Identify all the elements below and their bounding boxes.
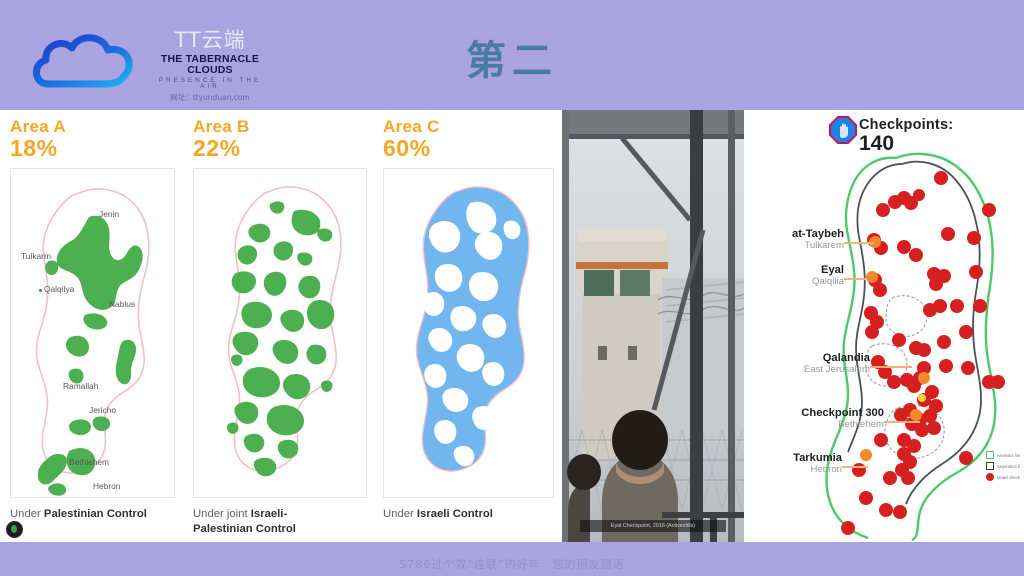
area-b-caption-bold: Israeli-	[251, 508, 287, 520]
area-a-percent: 18%	[10, 136, 175, 160]
area-c-percent: 60%	[383, 136, 554, 160]
cp-name-qalandia: Qalandia	[746, 352, 870, 365]
city-label-nablus: Nablus	[109, 299, 135, 309]
cp-label-tarkumia: Tarkumia Hebron	[752, 452, 842, 475]
city-label-bethlehem: Bethlehem	[69, 457, 109, 467]
legend-row-checkpoint: Israeli checkpoint	[986, 473, 1020, 481]
area-a-caption: Under Palestinian Control	[10, 507, 175, 521]
area-a-caption-bold: Palestinian Control	[44, 508, 147, 520]
city-label-jericho: Jericho	[89, 405, 116, 415]
checkpoints-map-panel: Checkpoints: 140	[744, 110, 1024, 542]
cp-sub-checkpoint-300: Bethlehem	[746, 420, 884, 431]
area-b-caption: Under joint Israeli-Palestinian Control	[193, 507, 367, 536]
city-label-ramallah: Ramallah	[63, 381, 98, 391]
leader-line-eyal	[844, 278, 866, 280]
area-a-caption-prefix: Under	[10, 508, 44, 520]
city-label-qalqilya: Qalqilya	[44, 284, 74, 294]
area-b-caption-bold2: Palestinian Control	[193, 523, 296, 535]
leader-line-checkpoint-300	[884, 421, 920, 423]
separation-barrier-icon	[986, 462, 994, 470]
cp-name-eyal: Eyal	[764, 264, 844, 277]
leader-line-at-taybeh	[844, 242, 874, 244]
city-label-hebron: Hebron	[93, 481, 120, 491]
cp-sub-at-taybeh: Tulkarem	[750, 241, 844, 252]
area-c-map	[383, 168, 554, 498]
checkpoint-photo: Eyal Checkpoint, 2018 (Activestills)	[562, 110, 744, 542]
area-a-label: Area A	[10, 118, 175, 135]
source-badge-icon	[6, 521, 23, 538]
area-b-caption-prefix: Under joint	[193, 508, 251, 520]
cp-sub-tarkumia: Hebron	[752, 465, 842, 476]
photo-caption: Eyal Checkpoint, 2018 (Activestills)	[580, 520, 726, 532]
slide-root: TT云端 THE TABERNACLE CLOUDS PRESENCE IN T…	[0, 0, 1024, 576]
cp-name-at-taybeh: at-Taybeh	[750, 228, 844, 241]
city-label-tulkarm: Tulkarm	[21, 251, 51, 261]
legend-text-armistice: Armistice line	[997, 453, 1020, 458]
area-b-percent: 22%	[193, 136, 367, 160]
logo-url: 网址：ttyunduan.com	[148, 94, 272, 102]
legend-row-armistice: Armistice line	[986, 451, 1020, 459]
cp-label-eyal: Eyal Qalqilia	[764, 264, 844, 287]
page-title: 第二	[0, 28, 1024, 86]
header-bar: TT云端 THE TABERNACLE CLOUDS PRESENCE IN T…	[0, 0, 1024, 110]
panel-area-b: Area B 22%	[185, 110, 375, 542]
cp-name-checkpoint-300: Checkpoint 300	[746, 407, 884, 420]
area-b-map	[193, 168, 367, 498]
area-c-label: Area C	[383, 118, 554, 135]
area-a-map: Jenin Tulkarm Qalqilya Nablus Ramallah J…	[10, 168, 175, 498]
city-label-jenin: Jenin	[99, 209, 119, 219]
cp-label-qalandia: Qalandia East Jerusalem	[746, 352, 870, 375]
map-legend: Armistice line Separation barrier Israel…	[986, 451, 1020, 484]
panel-area-c: Area C 60%	[375, 110, 562, 542]
cp-sub-eyal: Qalqilia	[764, 277, 844, 288]
armistice-line-icon	[986, 451, 994, 459]
content-area: Area A 18%	[0, 110, 1024, 542]
legend-text-checkpoint: Israeli checkpoint	[997, 475, 1020, 480]
area-c-caption: Under Israeli Control	[383, 507, 554, 521]
leader-line-qalandia	[870, 366, 912, 368]
area-c-caption-bold: Israeli Control	[417, 508, 493, 520]
area-b-label: Area B	[193, 118, 367, 135]
checkpoint-marker-icon	[986, 473, 994, 481]
legend-row-barrier: Separation barrier	[986, 462, 1020, 470]
footer-text: 5786过个双“连联”的好年 您的朋友盟语	[0, 556, 1024, 572]
leader-line-tarkumia	[842, 466, 868, 468]
panel-area-a: Area A 18%	[0, 110, 185, 542]
cp-label-at-taybeh: at-Taybeh Tulkarem	[750, 228, 844, 251]
area-c-caption-prefix: Under	[383, 508, 417, 520]
cp-label-checkpoint-300: Checkpoint 300 Bethlehem	[746, 407, 884, 430]
cp-name-tarkumia: Tarkumia	[752, 452, 842, 465]
legend-text-barrier: Separation barrier	[997, 464, 1020, 469]
cp-sub-qalandia: East Jerusalem	[746, 365, 870, 376]
